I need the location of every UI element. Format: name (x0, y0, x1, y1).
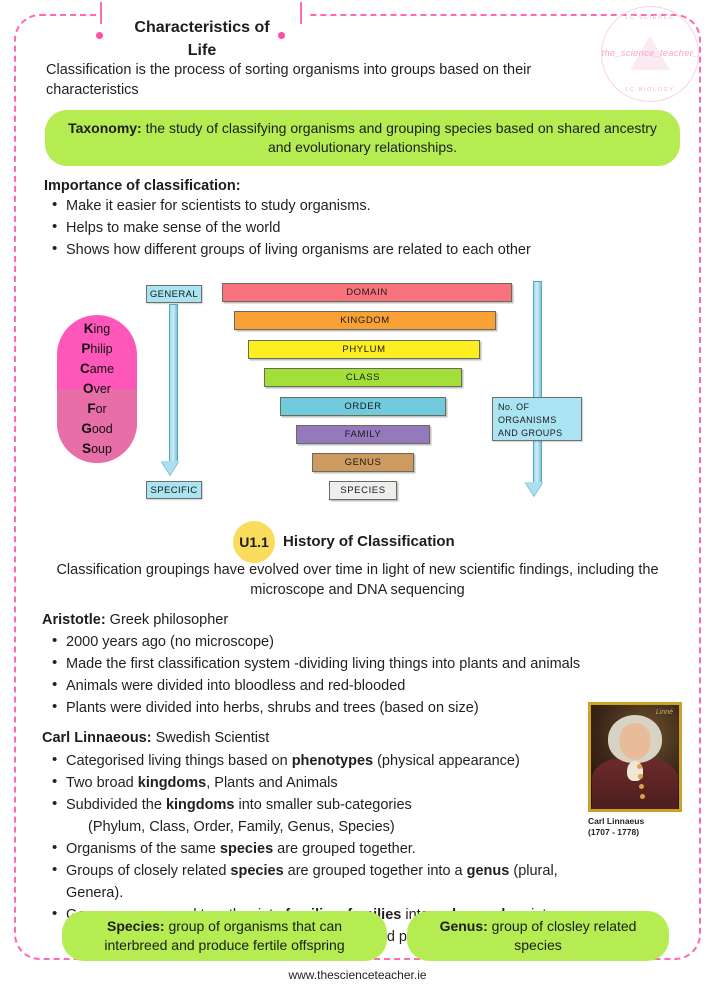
list-item: Subdivided the kingdoms into smaller sub… (66, 794, 604, 816)
aristotle-heading: Aristotle: Greek philosopher (42, 612, 228, 628)
genus-definition-box: Genus: group of closley related species (407, 911, 669, 961)
organisms-label-line1: No. OF (498, 401, 581, 414)
list-item: Helps to make sense of the world (66, 217, 644, 239)
list-item: Made the first classification system -di… (66, 653, 654, 675)
aristotle-descriptor: Greek philosopher (106, 612, 229, 628)
mnemonic-line: Philip (81, 339, 112, 359)
taxonomy-definition: the study of classifying organisms and g… (142, 120, 657, 155)
rank-bar-species: SPECIES (329, 481, 397, 500)
page-title: Characteristics of Life (92, 17, 312, 62)
general-to-specific-arrow-head-icon (161, 461, 179, 475)
aristotle-list: 2000 years ago (no microscope)Made the f… (44, 631, 654, 719)
portrait-signature: Linné (656, 709, 673, 716)
list-item: Animals were divided into bloodless and … (66, 675, 654, 697)
taxonomy-definition-box: Taxonomy: the study of classifying organ… (45, 110, 680, 166)
mnemonic-line: Soup (82, 439, 112, 459)
species-term: Species: (107, 918, 165, 934)
portrait-face (620, 723, 651, 760)
page-title-line1: Characteristics of (134, 19, 269, 36)
list-item: (Phylum, Class, Order, Family, Genus, Sp… (66, 816, 604, 838)
list-item: Categorised living things based on pheno… (66, 750, 604, 772)
label-general: GENERAL (146, 285, 202, 303)
mnemonic-line: Over (83, 379, 111, 399)
linnaeus-descriptor: Swedish Scientist (152, 730, 270, 746)
unit-subtitle: Classification groupings have evolved ov… (45, 560, 670, 601)
organisms-count-arrow-head-icon (525, 482, 543, 496)
rank-bar-order: ORDER (280, 397, 446, 416)
list-item: Shows how different groups of living org… (66, 239, 644, 261)
page-title-line2: Life (188, 42, 216, 59)
portrait-button (637, 764, 642, 769)
rank-bar-family: FAMILY (296, 425, 430, 444)
organisms-label-line2: ORGANISMS (498, 414, 581, 427)
species-definition-box: Species: group of organisms that can int… (62, 911, 387, 961)
rank-bar-phylum: PHYLUM (248, 340, 480, 359)
general-to-specific-arrow-shaft (169, 304, 178, 462)
rank-bar-kingdom: KINGDOM (234, 311, 496, 330)
aristotle-name: Aristotle: (42, 612, 106, 628)
linnaeus-heading: Carl Linnaeous: Swedish Scientist (42, 730, 269, 746)
label-specific: SPECIFIC (146, 481, 202, 499)
portrait-caption-dates: (1707 - 1778) (588, 827, 688, 838)
list-item: Two broad kingdoms, Plants and Animals (66, 772, 604, 794)
linnaeus-name: Carl Linnaeous: (42, 730, 152, 746)
list-item: Make it easier for scientists to study o… (66, 195, 644, 217)
unit-badge: U1.1 (233, 521, 275, 563)
unit-title: History of Classification (283, 533, 455, 550)
taxonomy-term: Taxonomy: (68, 120, 142, 136)
rank-bar-domain: DOMAIN (222, 283, 512, 302)
portrait-button (638, 774, 643, 779)
portrait-button (640, 794, 645, 799)
label-number-of-organisms: No. OF ORGANISMS AND GROUPS (492, 397, 582, 441)
list-item: Groups of closely related species are gr… (66, 860, 604, 904)
rank-bar-genus: GENUS (312, 453, 414, 472)
mnemonic-line: Good (81, 419, 112, 439)
portrait-caption-name: Carl Linnaeus (588, 816, 688, 827)
importance-heading: Importance of classification: (44, 178, 241, 194)
carl-linnaeus-portrait: Linné (588, 702, 682, 812)
portrait-caption: Carl Linnaeus (1707 - 1778) (588, 816, 688, 839)
mnemonic-line: For (87, 399, 106, 419)
portrait-button (639, 784, 644, 789)
list-item: Organisms of the same species are groupe… (66, 838, 604, 860)
list-item: 2000 years ago (no microscope) (66, 631, 654, 653)
mnemonic-shape: KingPhilipCameOverForGoodSoup (57, 315, 137, 463)
organisms-label-line3: AND GROUPS (498, 427, 581, 440)
rank-bar-class: CLASS (264, 368, 462, 387)
genus-text: group of closley related species (488, 918, 637, 953)
intro-paragraph: Classification is the process of sorting… (46, 60, 606, 100)
list-item: Plants were divided into herbs, shrubs a… (66, 697, 654, 719)
footer-url: www.thescienceteacher.ie (0, 968, 715, 982)
genus-term: Genus: (440, 918, 488, 934)
mnemonic-line: King (84, 319, 110, 339)
organisms-count-arrow-shaft (533, 281, 542, 483)
mnemonic-text: KingPhilipCameOverForGoodSoup (57, 315, 137, 463)
mnemonic-line: Came (80, 359, 114, 379)
importance-list: Make it easier for scientists to study o… (44, 195, 644, 261)
